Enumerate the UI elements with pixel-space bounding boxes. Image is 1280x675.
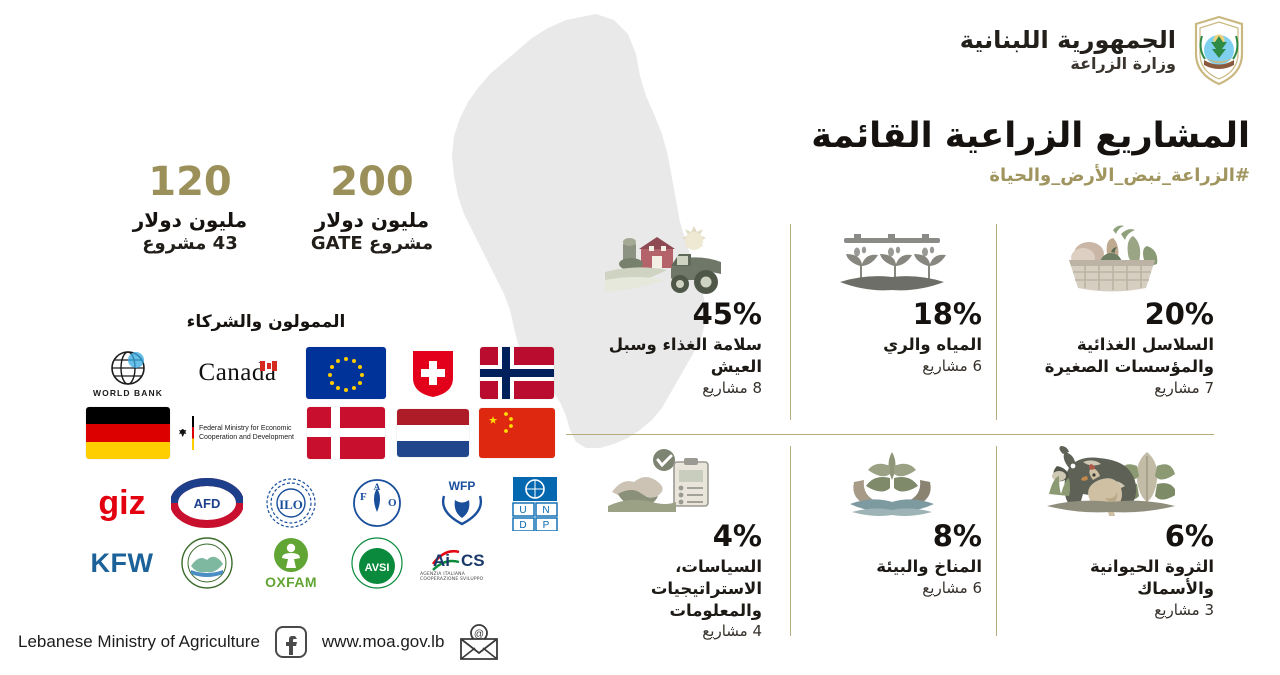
hands-plant-water-icon xyxy=(802,446,982,518)
ministry-name: وزارة الزراعة xyxy=(960,55,1176,73)
aics-logo: CS Ai AGENZIA ITALIANA COOPERAZIONE SVIL… xyxy=(420,544,504,582)
bmz-label: Federal Ministry for Economic Cooperatio… xyxy=(199,424,298,442)
lebanon-ministry-emblem-icon xyxy=(1188,14,1250,86)
stat-label: المياه والري xyxy=(802,334,982,356)
stat-percent: 8% xyxy=(802,522,982,551)
grid-divider-v2 xyxy=(996,224,997,420)
ilo-logo: ILO xyxy=(248,476,334,530)
stat-label: سلامة الغذاء وسبل العيش xyxy=(566,334,762,378)
avsi-logo: AVSI xyxy=(334,536,420,590)
stat-label: الثروة الحيوانية والأسماك xyxy=(1008,556,1214,600)
svg-text:P: P xyxy=(543,520,550,531)
afd-oval-icon: AFD xyxy=(171,478,243,528)
stat-count: 6 مشاريع xyxy=(802,579,982,599)
wfp-wreath-hand-icon: WFP xyxy=(431,476,493,530)
stat-cell-climate: 8% المناخ والبيئة 6 مشاريع xyxy=(802,446,982,598)
world-bank-logo: WORLD BANK xyxy=(78,349,178,398)
norway-flag xyxy=(472,347,562,399)
money-stat-gate: 200 مليون دولار مشروع GATE xyxy=(282,162,462,256)
fao-wheat-icon: F O A xyxy=(348,476,406,530)
wfp-logo: WFP xyxy=(420,476,504,530)
grid-divider-v4 xyxy=(996,446,997,636)
svg-text:WFP: WFP xyxy=(449,479,476,493)
svg-text:Ai: Ai xyxy=(433,551,450,570)
european-union-flag xyxy=(298,347,394,399)
iamb-bari-logo xyxy=(166,536,248,590)
bmz-logo: Federal Ministry for Economic Cooperatio… xyxy=(178,416,298,450)
stat-percent: 6% xyxy=(1008,522,1214,551)
undp-un-icon: U N D P xyxy=(511,475,559,531)
switzerland-flag xyxy=(394,348,472,398)
money-unit: مليون دولار xyxy=(282,208,462,233)
avsi-circle-icon: AVSI xyxy=(350,536,404,590)
canada-flag-icon xyxy=(260,361,277,371)
stat-percent: 20% xyxy=(1008,300,1214,329)
stat-label: المناخ والبيئة xyxy=(802,556,982,578)
grid-divider-v3 xyxy=(790,446,791,636)
hashtag: #الزراعة_نبض_الأرض_والحياة xyxy=(811,165,1250,186)
money-sub: مشروع GATE xyxy=(282,233,462,256)
germany-flag xyxy=(78,407,178,459)
email-envelope-icon[interactable]: @ xyxy=(458,623,500,661)
oxfam-logo: OXFAM xyxy=(248,536,334,590)
oxfam-label: OXFAM xyxy=(265,574,317,590)
stat-cell-livestock: 6% الثروة الحيوانية والأسماك 3 مشاريع xyxy=(1008,446,1214,620)
statistics-grid: 45% سلامة الغذاء وسبل العيش 8 مشاريع xyxy=(566,222,1214,650)
svg-text:A: A xyxy=(374,482,381,492)
facebook-icon[interactable] xyxy=(274,625,308,659)
grid-divider-h xyxy=(566,434,1214,435)
money-sub: 43 مشروع xyxy=(100,233,280,256)
footer: Lebanese Ministry of Agriculture www.moa… xyxy=(18,623,500,661)
eu-stars-icon xyxy=(306,347,386,399)
stat-label: السلاسل الغذائية والمؤسسات الصغيرة xyxy=(1008,334,1214,378)
stat-count: 3 مشاريع xyxy=(1008,601,1214,621)
stat-cell-policies: 4% السياسات، الاستراتيجيات والمعلومات 4 … xyxy=(566,446,762,642)
svg-text:ILO: ILO xyxy=(279,497,303,512)
grid-divider-v1 xyxy=(790,224,791,420)
svg-text:F: F xyxy=(360,491,367,503)
stat-count: 8 مشاريع xyxy=(566,379,762,399)
oxfam-person-icon xyxy=(271,536,311,574)
ministry-identity: الجمهورية اللبنانية وزارة الزراعة xyxy=(811,14,1250,86)
svg-text:AFD: AFD xyxy=(194,496,221,511)
fao-logo: F O A xyxy=(334,476,420,530)
farm-barn-tractor-icon xyxy=(566,224,762,296)
money-stat-projects: 120 مليون دولار 43 مشروع xyxy=(100,162,280,256)
svg-text:CS: CS xyxy=(461,551,485,570)
vegetable-basket-icon xyxy=(1008,224,1214,296)
aics-wordmark-icon: CS Ai xyxy=(431,544,493,572)
ilo-wreath-icon: ILO xyxy=(262,476,320,530)
stat-percent: 45% xyxy=(566,300,762,329)
undp-logo: U N D P xyxy=(504,475,566,531)
svg-text:U: U xyxy=(519,505,526,516)
netherlands-flag xyxy=(394,409,472,457)
kfw-logo: KFW xyxy=(78,548,166,579)
stat-percent: 18% xyxy=(802,300,982,329)
stat-cell-food-safety: 45% سلامة الغذاء وسبل العيش 8 مشاريع xyxy=(566,224,762,398)
stat-cell-water-irrigation: 18% المياه والري 6 مشاريع xyxy=(802,224,982,376)
money-number: 120 xyxy=(100,162,280,202)
money-unit: مليون دولار xyxy=(100,208,280,233)
republic-name: الجمهورية اللبنانية xyxy=(960,27,1176,54)
china-stars-icon xyxy=(479,408,555,458)
svg-text:AVSI: AVSI xyxy=(365,562,390,574)
german-eagle-icon xyxy=(178,423,187,443)
money-number: 200 xyxy=(282,162,462,202)
afd-logo: AFD xyxy=(166,478,248,528)
giz-logo: giz xyxy=(78,486,166,520)
denmark-flag xyxy=(298,407,394,459)
footer-website[interactable]: www.moa.gov.lb xyxy=(322,632,445,652)
giz-label: giz xyxy=(98,486,145,520)
donor-logos: WORLD BANK Canada xyxy=(78,344,568,592)
china-flag xyxy=(472,408,562,458)
header: الجمهورية اللبنانية وزارة الزراعة المشار… xyxy=(811,14,1250,186)
stat-cell-food-chains: 20% السلاسل الغذائية والمؤسسات الصغيرة 7… xyxy=(1008,224,1214,398)
world-bank-globe-icon xyxy=(102,349,154,387)
aics-sublabel: AGENZIA ITALIANA COOPERAZIONE SVILUPPO xyxy=(420,572,504,582)
stat-percent: 4% xyxy=(566,522,762,551)
svg-text:O: O xyxy=(388,497,397,509)
kfw-label: KFW xyxy=(91,548,154,579)
svg-text:N: N xyxy=(542,505,549,516)
cow-chicken-corn-icon xyxy=(1008,446,1214,518)
stat-count: 6 مشاريع xyxy=(802,357,982,377)
footer-org-name: Lebanese Ministry of Agriculture xyxy=(18,632,260,652)
canada-logo: Canada xyxy=(178,359,298,387)
stat-label: السياسات، الاستراتيجيات والمعلومات xyxy=(566,556,762,621)
svg-text:D: D xyxy=(519,520,526,531)
stat-count: 4 مشاريع xyxy=(566,622,762,642)
world-bank-label: WORLD BANK xyxy=(93,388,163,398)
page-title: المشاريع الزراعية القائمة xyxy=(811,116,1250,156)
handshake-clipboard-icon xyxy=(566,446,762,518)
infographic-canvas: الجمهورية اللبنانية وزارة الزراعة المشار… xyxy=(0,0,1280,675)
donors-section-title: الممولون والشركاء xyxy=(146,312,386,332)
irrigation-sprinkler-icon xyxy=(802,224,982,296)
ciheam-seal-icon xyxy=(180,536,234,590)
stat-count: 7 مشاريع xyxy=(1008,379,1214,399)
swiss-shield-icon xyxy=(410,348,456,398)
